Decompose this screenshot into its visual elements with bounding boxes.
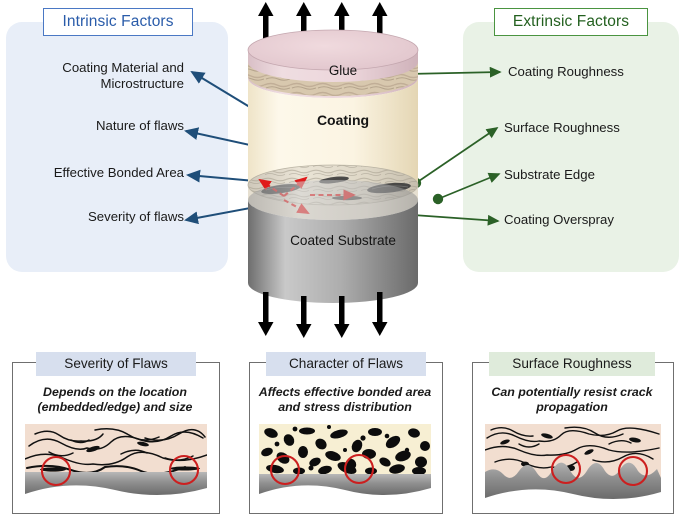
- layer-label-glue: Glue: [238, 63, 448, 78]
- subpanel-description-surface-roughness: Can potentially resist crack propagation: [476, 385, 668, 415]
- micrograph-surface-roughness: [485, 424, 661, 504]
- micrograph-severity-of-flaws: [25, 424, 207, 500]
- subpanel-title-character-of-flaws: Character of Flaws: [266, 352, 426, 376]
- specimen-cylinder: [238, 0, 448, 340]
- subpanel-description-character-of-flaws: Affects effective bonded area and stress…: [252, 385, 438, 415]
- layer-label-coated-substrate: Coated Substrate: [238, 233, 448, 248]
- layer-label-coating: Coating: [238, 112, 448, 128]
- subpanel-description-severity-of-flaws: Depends on the location (embedded/edge) …: [16, 385, 214, 415]
- micrograph-character-of-flaws: [259, 424, 431, 500]
- subpanel-title-surface-roughness: Surface Roughness: [489, 352, 655, 376]
- subpanel-title-severity-of-flaws: Severity of Flaws: [36, 352, 196, 376]
